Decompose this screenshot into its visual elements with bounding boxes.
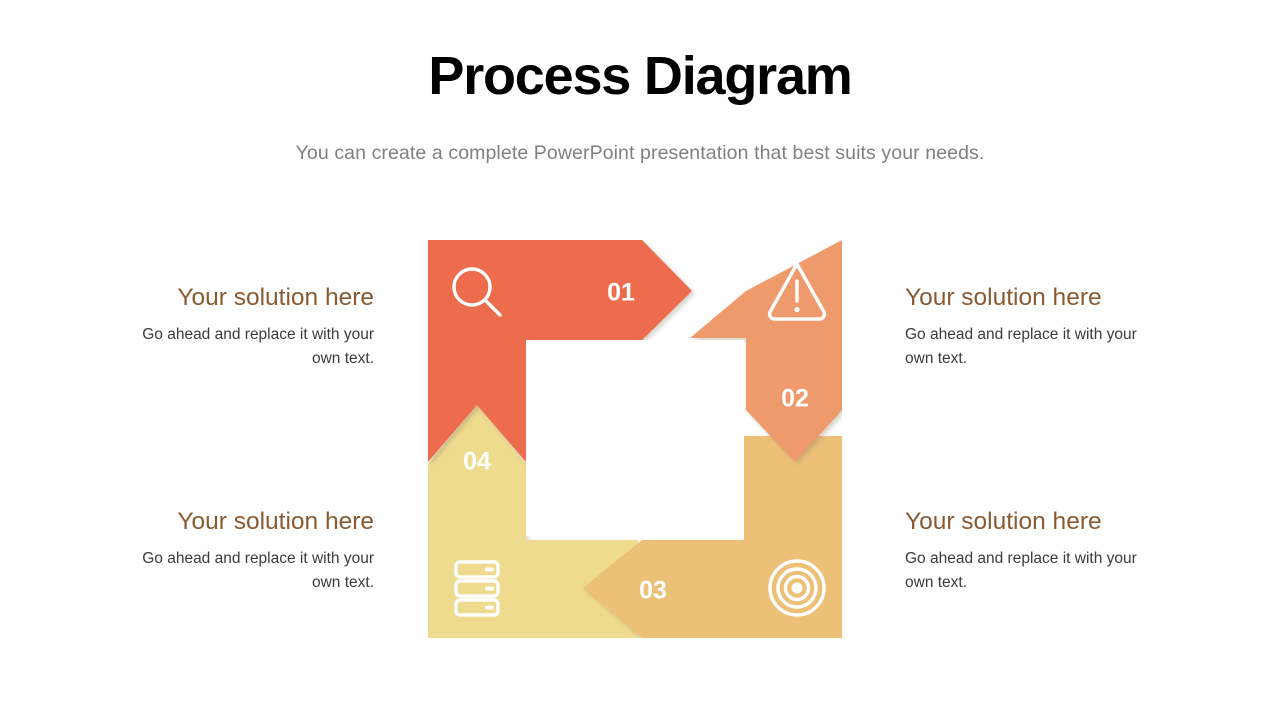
- solution-body: Go ahead and replace it with your own te…: [905, 323, 1155, 370]
- solution-block-top-left: Your solution here Go ahead and replace …: [124, 284, 374, 370]
- solution-body: Go ahead and replace it with your own te…: [905, 547, 1155, 594]
- solution-heading: Your solution here: [905, 284, 1155, 312]
- segment-04-number: 04: [463, 448, 491, 476]
- solution-body: Go ahead and replace it with your own te…: [124, 323, 374, 370]
- solution-block-bottom-right: Your solution here Go ahead and replace …: [905, 508, 1155, 594]
- solution-body: Go ahead and replace it with your own te…: [124, 547, 374, 594]
- segment-02-number: 02: [781, 385, 809, 413]
- solution-block-bottom-left: Your solution here Go ahead and replace …: [124, 508, 374, 594]
- target-icon: [770, 561, 824, 615]
- solution-heading: Your solution here: [905, 508, 1155, 536]
- page-subtitle: You can create a complete PowerPoint pre…: [0, 142, 1280, 165]
- diagram-center-placeholder[interactable]: [526, 340, 744, 536]
- segment-01-number: 01: [607, 279, 635, 307]
- page-title: Process Diagram: [0, 46, 1280, 106]
- segment-03-number: 03: [639, 577, 667, 605]
- solution-block-top-right: Your solution here Go ahead and replace …: [905, 284, 1155, 370]
- process-diagram: 04 03 02: [428, 240, 842, 638]
- solution-heading: Your solution here: [124, 284, 374, 312]
- solution-heading: Your solution here: [124, 508, 374, 536]
